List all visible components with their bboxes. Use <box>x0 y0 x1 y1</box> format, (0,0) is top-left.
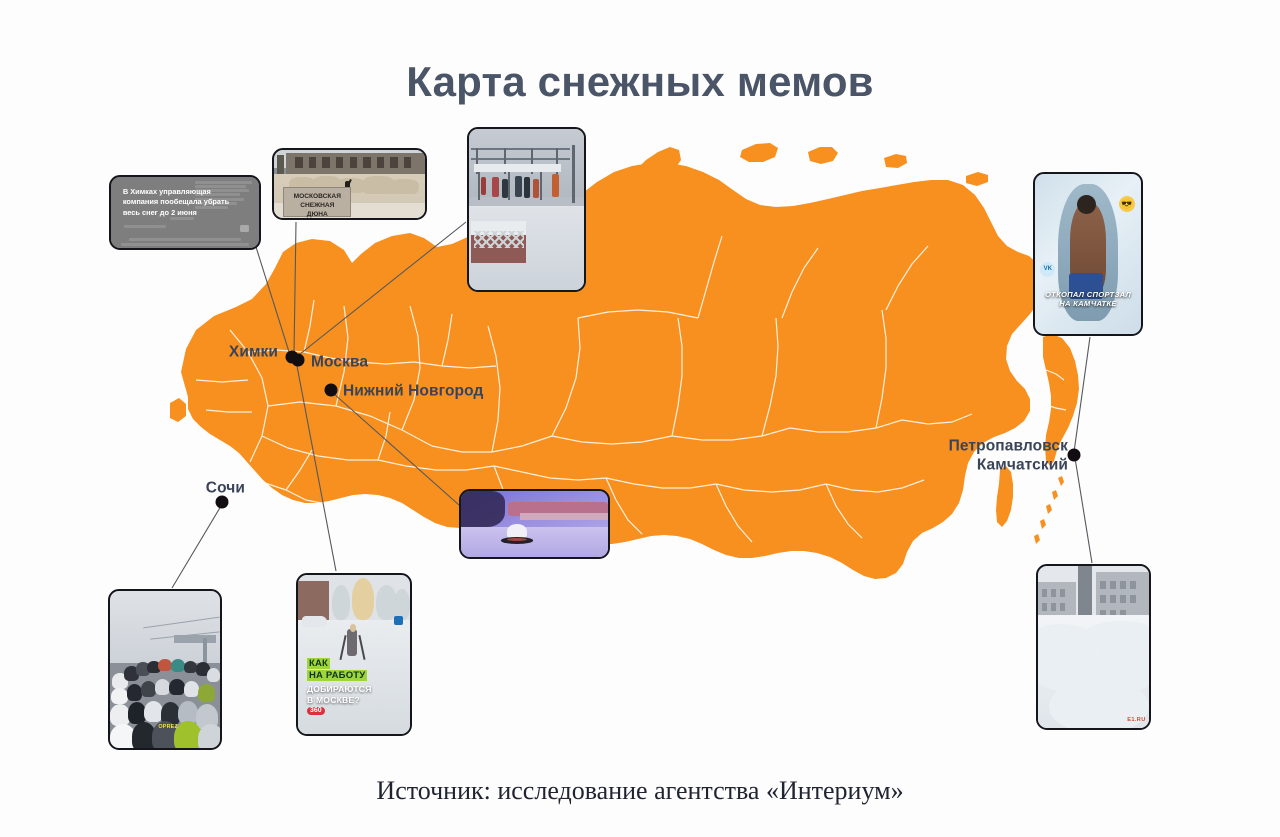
photo-card-kamchatka-gym[interactable]: 😎 VK ОТКОПАЛ СПОРТЗАЛ НА КАМЧАТКЕ <box>1033 172 1143 336</box>
khimki-news-headline: В Химках управляющая компания пообещала … <box>123 187 235 219</box>
photo-card-moscow-snow-dune[interactable]: МОСКОВСКАЯ СНЕЖНАЯ ДЮНА <box>272 148 427 220</box>
photo-khimki-news-image: В Химках управляющая компания пообещала … <box>111 177 259 248</box>
city-label-khimki: Химки <box>229 342 278 361</box>
city-dot-petropavlovsk-kamchatsky[interactable] <box>1068 449 1081 462</box>
moscow-commute-line2: НА РАБОТУ <box>307 670 367 681</box>
photo-sochi-crowd-image: OPREZ <box>110 591 220 748</box>
photo-card-moscow-commute[interactable]: КАК НА РАБОТУ ДОБИРАЮТСЯ В МОСКВЕ? 360 <box>296 573 412 736</box>
photo-card-khimki-news[interactable]: В Химках управляющая компания пообещала … <box>109 175 261 250</box>
photo-buried-cars-image: E1.RU <box>1038 566 1149 728</box>
city-label-moscow: Москва <box>311 352 368 371</box>
buried-cars-watermark: E1.RU <box>1127 717 1145 723</box>
source-caption: Источник: исследование агентства «Интери… <box>0 776 1280 806</box>
kamchatka-gym-caption: ОТКОПАЛ СПОРТЗАЛ НА КАМЧАТКЕ <box>1035 291 1141 308</box>
moscow-commute-line4: В МОСКВЕ? <box>307 695 360 705</box>
photo-card-sochi-crowd[interactable]: OPREZ <box>108 589 222 750</box>
moscow-commute-line3: ДОБИРАЮТСЯ <box>307 684 372 694</box>
emoji-badge-icon: 😎 <box>1119 196 1135 212</box>
city-dot-moscow[interactable] <box>292 354 305 367</box>
arctic-islands <box>740 143 907 168</box>
infographic-canvas: Карта снежных мемов Химки Москва Нижний … <box>0 0 1280 837</box>
photo-moscow-snow-dune-image: МОСКОВСКАЯ СНЕЖНАЯ ДЮНА <box>274 150 425 218</box>
city-dot-nizhny-novgorod[interactable] <box>325 384 338 397</box>
moscow-snow-dune-sign-text: МОСКОВСКАЯ СНЕЖНАЯ ДЮНА <box>284 192 350 218</box>
kaliningrad-and-west-coast <box>170 398 186 422</box>
kuril-islands <box>1034 476 1064 544</box>
photo-card-bus-stop-snow[interactable] <box>467 127 586 292</box>
city-label-petropavlovsk-kamchatsky: Петропавловск Камчатский <box>949 437 1068 476</box>
photo-card-nizhny-tubing[interactable] <box>459 489 610 559</box>
photo-bus-stop-snow-image <box>469 129 584 290</box>
moscow-commute-line1: КАК <box>307 658 330 669</box>
street-sign-icon <box>394 616 403 625</box>
city-label-nizhny-novgorod: Нижний Новгород <box>343 381 483 400</box>
photo-moscow-commute-image: КАК НА РАБОТУ ДОБИРАЮТСЯ В МОСКВЕ? 360 <box>298 575 410 734</box>
city-label-sochi: Сочи <box>206 478 245 497</box>
sochi-crowd-watermark: OPREZ <box>158 724 178 730</box>
photo-nizhny-tubing-image <box>461 491 608 557</box>
page-title: Карта снежных мемов <box>0 58 1280 106</box>
photo-card-buried-cars[interactable]: E1.RU <box>1036 564 1151 730</box>
channel-360-badge: 360 <box>307 707 325 715</box>
photo-kamchatka-gym-image: 😎 VK ОТКОПАЛ СПОРТЗАЛ НА КАМЧАТКЕ <box>1035 174 1141 334</box>
wrangel-island <box>966 172 988 186</box>
